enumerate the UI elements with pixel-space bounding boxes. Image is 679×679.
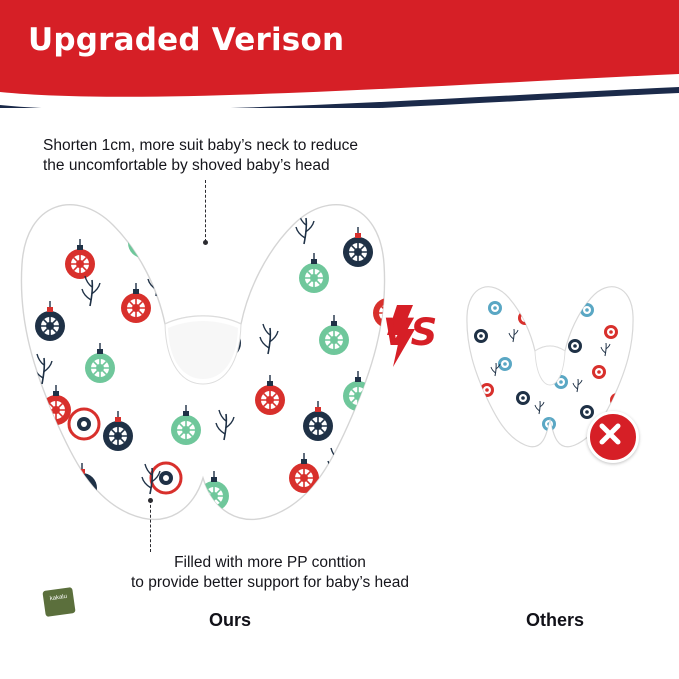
leader-dot-bottom bbox=[148, 498, 153, 503]
vs-badge: VS bbox=[383, 305, 453, 367]
product-comparison-image: Upgraded Verison bbox=[0, 0, 679, 679]
caption-bottom: Filled with more PP conttion to provide … bbox=[110, 553, 430, 593]
header-navy-accent bbox=[0, 86, 679, 108]
page-title: Upgraded Verison bbox=[28, 22, 344, 58]
caption-top: Shorten 1cm, more suit baby’s neck to re… bbox=[43, 136, 423, 176]
pillow-ours-illustration bbox=[18, 178, 388, 534]
label-ours: Ours bbox=[200, 610, 260, 631]
x-mark-icon bbox=[587, 411, 639, 463]
vs-label: VS bbox=[383, 311, 453, 354]
brand-tag: kakalu bbox=[42, 587, 75, 617]
product-image-ours: kakalu bbox=[18, 178, 388, 534]
leader-line-top bbox=[205, 180, 206, 242]
leader-dot-top bbox=[203, 240, 208, 245]
label-others: Others bbox=[520, 610, 590, 631]
leader-line-bottom bbox=[150, 500, 151, 552]
x-mark-glyph bbox=[590, 414, 630, 454]
